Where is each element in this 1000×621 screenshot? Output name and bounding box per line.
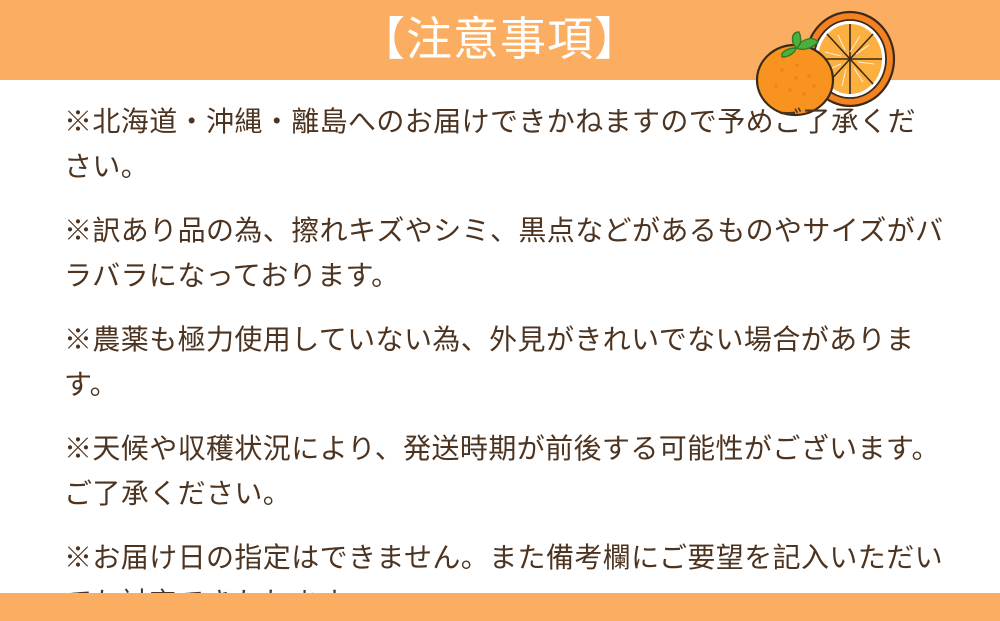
note-item: ※北海道・沖縄・離島へのお届けできかねますので予めご了承ください。 — [64, 100, 944, 190]
notes-list: ※北海道・沖縄・離島へのお届けできかねますので予めご了承ください。 ※訳あり品の… — [64, 100, 944, 621]
note-item: ※訳あり品の為、擦れキズやシミ、黒点などがあるものやサイズがバラバラになっており… — [64, 209, 944, 299]
note-item: ※天候や収穫状況により、発送時期が前後する可能性がございます。ご了承ください。 — [64, 427, 944, 517]
footer-band — [0, 593, 1000, 621]
notice-banner: 【注意事項】 — [0, 0, 1000, 621]
note-item: ※農薬も極力使用していない為、外見がきれいでない場合があります。 — [64, 318, 944, 408]
